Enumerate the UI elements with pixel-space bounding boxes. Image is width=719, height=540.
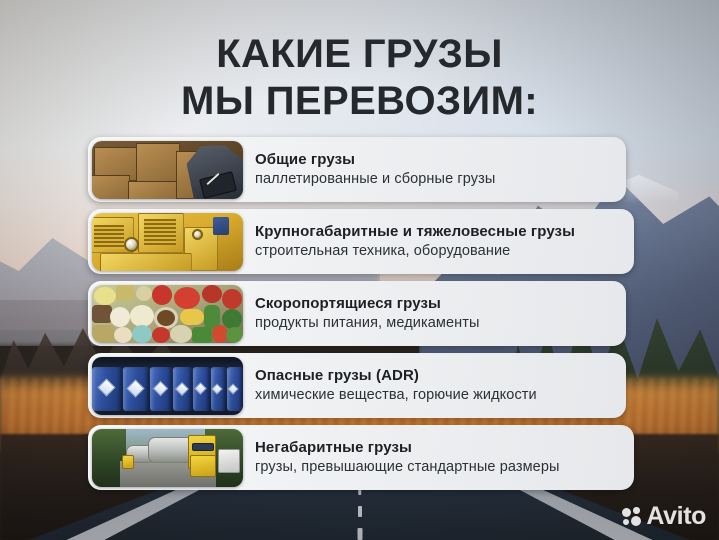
construction-machine-thumbnail-icon	[92, 213, 243, 271]
list-item-text: Общие грузы паллетированные и сборные гр…	[255, 150, 495, 189]
list-item-title: Негабаритные грузы	[255, 438, 560, 457]
list-item-subtitle: грузы, превышающие стандартные размеры	[255, 458, 560, 477]
page-title: КАКИЕ ГРУЗЫ МЫ ПЕРЕВОЗИМ:	[0, 33, 719, 122]
list-item-oversized-heavy-cargo[interactable]: Крупногабаритные и тяжеловесные грузы ст…	[88, 209, 634, 274]
headline-line-1: КАКИЕ ГРУЗЫ	[216, 32, 503, 76]
avito-wordmark: Avito	[646, 504, 706, 529]
avito-watermark: Avito	[622, 504, 706, 529]
list-item-general-cargo[interactable]: Общие грузы паллетированные и сборные гр…	[88, 137, 626, 202]
oversized-trucks-thumbnail-icon	[92, 429, 243, 487]
list-item-title: Опасные грузы (ADR)	[255, 366, 537, 385]
list-item-out-of-gauge-cargo[interactable]: Негабаритные грузы грузы, превышающие ст…	[88, 425, 634, 490]
list-item-title: Крупногабаритные и тяжеловесные грузы	[255, 222, 575, 241]
list-item-title: Общие грузы	[255, 150, 495, 169]
list-item-perishable-cargo[interactable]: Скоропортящиеся грузы продукты питания, …	[88, 281, 626, 346]
headline-line-2: МЫ ПЕРЕВОЗИМ:	[0, 80, 719, 122]
chemical-barrels-thumbnail-icon	[92, 357, 243, 415]
avito-logo-icon	[622, 507, 641, 526]
content-layer: КАКИЕ ГРУЗЫ МЫ ПЕРЕВОЗИМ: Общие грузы па…	[0, 0, 719, 540]
boxes-worker-thumbnail-icon	[92, 141, 243, 199]
list-item-subtitle: продукты питания, медикаменты	[255, 314, 480, 333]
list-item-text: Негабаритные грузы грузы, превышающие ст…	[255, 438, 560, 477]
list-item-dangerous-cargo[interactable]: Опасные грузы (ADR) химические вещества,…	[88, 353, 626, 418]
list-item-subtitle: химические вещества, горючие жидкости	[255, 386, 537, 405]
list-item-subtitle: паллетированные и сборные грузы	[255, 170, 495, 189]
list-item-text: Скоропортящиеся грузы продукты питания, …	[255, 294, 480, 333]
cargo-type-list: Общие грузы паллетированные и сборные гр…	[88, 137, 634, 490]
list-item-title: Скоропортящиеся грузы	[255, 294, 480, 313]
food-produce-thumbnail-icon	[92, 285, 243, 343]
list-item-text: Крупногабаритные и тяжеловесные грузы ст…	[255, 222, 575, 261]
list-item-subtitle: строительная техника, оборудование	[255, 242, 575, 261]
list-item-text: Опасные грузы (ADR) химические вещества,…	[255, 366, 537, 405]
